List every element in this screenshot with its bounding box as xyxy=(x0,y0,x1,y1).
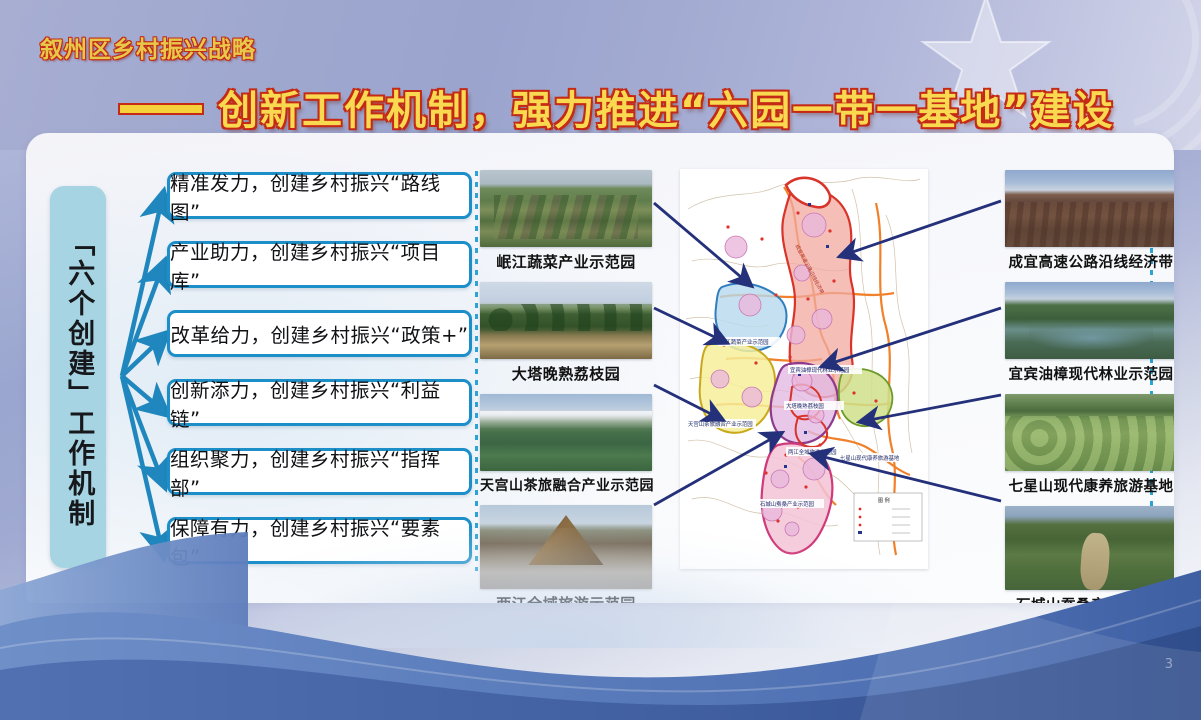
district-map[interactable]: 岷江蔬菜产业示范园 宜宾油樟现代林业示范园 大塔晚熟荔枝园 天宫山茶旅融合产业示… xyxy=(680,169,928,569)
map-label: 两江全域旅游示范园 xyxy=(788,448,837,456)
mechanism-box-label: 精准发力，创建乡村振兴“路线图” xyxy=(170,167,469,225)
sidebar-vertical-pill: 「六个创建」工作机制 xyxy=(50,186,106,568)
mechanism-box-label: 创新添力，创建乡村振兴“利益链” xyxy=(170,374,469,432)
photo-caption: 天宫山茶旅融合产业示范园 xyxy=(480,471,652,497)
mechanism-box-list: 精准发力，创建乡村振兴“路线图” 产业助力，创建乡村振兴“项目库” 改革给力，创… xyxy=(167,172,472,586)
mechanism-box[interactable]: 组织聚力，创建乡村振兴“指挥部” xyxy=(167,448,472,495)
em-dash-rule-icon xyxy=(120,105,202,113)
photo-caption: 岷江蔬菜产业示范园 xyxy=(480,247,652,274)
arrow-to-box-4 xyxy=(122,376,162,410)
mechanism-box[interactable]: 精准发力，创建乡村振兴“路线图” xyxy=(167,172,472,219)
mechanism-box[interactable]: 改革给力，创建乡村振兴“政策+” xyxy=(167,310,472,357)
map-legend-title: 图 例 xyxy=(878,497,890,504)
sidebar-vertical-label: 「六个创建」工作机制 xyxy=(64,229,93,529)
mechanism-box-label: 组织聚力，创建乡村振兴“指挥部” xyxy=(170,443,469,501)
photo-card[interactable]: 大塔晚熟荔枝园 xyxy=(480,282,652,386)
photo-caption: 七星山现代康养旅游基地 xyxy=(1005,471,1174,498)
photo-caption: 宜宾油樟现代林业示范园 xyxy=(1005,359,1174,386)
arrow-to-box-6 xyxy=(122,376,162,550)
mechanism-box-label: 改革给力，创建乡村振兴“政策+” xyxy=(170,319,468,348)
map-label: 石城山蚕桑产业示范园 xyxy=(760,500,814,508)
page-title: 创新工作机制，强力推进“六园一带一基地”建设 xyxy=(218,78,1115,136)
arrow-to-box-5 xyxy=(122,376,162,480)
mechanism-box[interactable]: 产业助力，创建乡村振兴“项目库” xyxy=(167,241,472,288)
mechanism-box[interactable]: 创新添力，创建乡村振兴“利益链” xyxy=(167,379,472,426)
map-label: 宜宾油樟现代林业示范园 xyxy=(790,366,849,374)
map-label: 七星山现代康养旅游基地 xyxy=(840,454,900,462)
arrow-to-box-2 xyxy=(122,268,162,376)
photo-image xyxy=(1005,170,1174,247)
photo-card[interactable]: 宜宾油樟现代林业示范园 xyxy=(1005,282,1174,386)
photo-caption: 成宜高速公路沿线经济带 xyxy=(1005,247,1174,274)
photo-card[interactable]: 天宫山茶旅融合产业示范园 xyxy=(480,394,652,497)
wave-decoration xyxy=(0,530,1201,720)
photo-image xyxy=(480,394,652,471)
photo-card[interactable]: 七星山现代康养旅游基地 xyxy=(1005,394,1174,498)
map-zone-qixingshan xyxy=(839,369,893,426)
map-label: 岷江蔬菜产业示范园 xyxy=(720,338,769,346)
photo-image xyxy=(480,170,652,247)
photo-image xyxy=(1005,394,1174,471)
map-label: 天宫山茶旅融合产业示范园 xyxy=(688,420,753,428)
slide-kicker: 叙州区乡村振兴战略 xyxy=(40,30,256,64)
mechanism-box-label: 产业助力，创建乡村振兴“项目库” xyxy=(170,236,469,294)
photo-image xyxy=(1005,282,1174,359)
map-label: 大塔晚熟荔枝园 xyxy=(786,402,824,410)
slide-title-row: 创新工作机制，强力推进“六园一带一基地”建设 xyxy=(120,78,1115,136)
arrow-to-box-3 xyxy=(122,338,162,376)
slide-root: 叙州区乡村振兴战略 创新工作机制，强力推进“六园一带一基地”建设 「六个创建」工… xyxy=(0,0,1201,720)
divider-dotted-left xyxy=(475,171,478,571)
page-number: 3 xyxy=(1165,657,1173,672)
photo-card[interactable]: 岷江蔬菜产业示范园 xyxy=(480,170,652,274)
photo-image xyxy=(480,282,652,359)
photo-caption: 大塔晚熟荔枝园 xyxy=(480,359,652,386)
arrow-to-box-1 xyxy=(122,199,162,376)
photo-card[interactable]: 成宜高速公路沿线经济带 xyxy=(1005,170,1174,274)
